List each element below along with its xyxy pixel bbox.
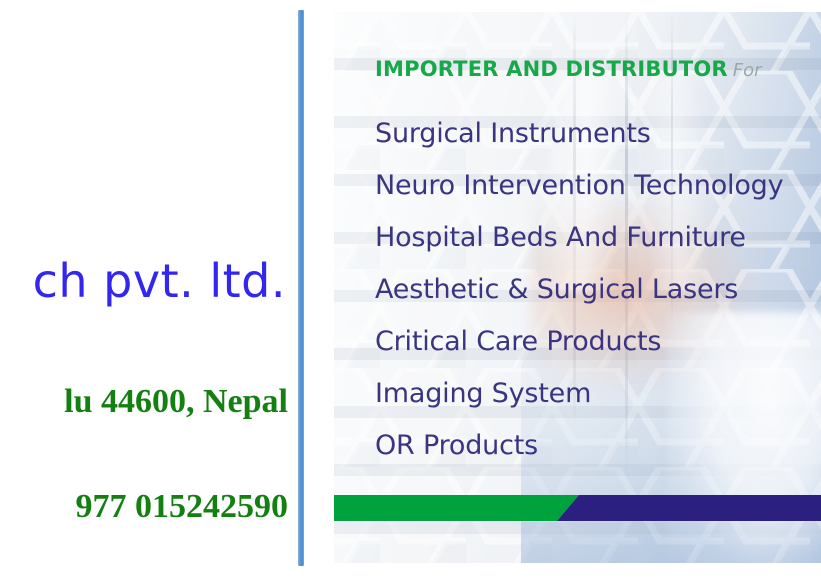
service-label: Aesthetic & Surgical Lasers bbox=[375, 276, 738, 303]
list-item: Critical Care Products bbox=[375, 315, 821, 367]
service-label: Critical Care Products bbox=[375, 328, 661, 355]
list-item: Imaging System bbox=[375, 367, 821, 419]
company-info-column: ch pvt. ltd. lu 44600, Nepal 977 0152425… bbox=[0, 0, 300, 581]
services-list: Surgical Instruments Neuro Intervention … bbox=[375, 107, 821, 471]
accent-bar-green-segment bbox=[334, 495, 579, 521]
service-label: OR Products bbox=[375, 432, 538, 459]
company-phone: 977 015242590 bbox=[76, 490, 289, 524]
accent-bar bbox=[334, 495, 821, 521]
list-item: Aesthetic & Surgical Lasers bbox=[375, 263, 821, 315]
service-label: Imaging System bbox=[375, 380, 591, 407]
service-label: Surgical Instruments bbox=[375, 120, 651, 147]
list-item: Surgical Instruments bbox=[375, 107, 821, 159]
vertical-divider bbox=[298, 10, 304, 566]
headline-main-text: IMPORTER AND DISTRIBUTOR bbox=[375, 57, 728, 81]
list-item: OR Products bbox=[375, 419, 821, 471]
service-label: Hospital Beds And Furniture bbox=[375, 224, 746, 251]
services-panel: IMPORTER AND DISTRIBUTORFor Surgical Ins… bbox=[334, 12, 821, 563]
list-item: Hospital Beds And Furniture bbox=[375, 211, 821, 263]
panel-content: IMPORTER AND DISTRIBUTORFor Surgical Ins… bbox=[334, 12, 821, 563]
company-address: lu 44600, Nepal bbox=[64, 385, 288, 419]
headline-suffix-text: For bbox=[733, 60, 762, 81]
company-name: ch pvt. ltd. bbox=[33, 258, 286, 304]
panel-headline: IMPORTER AND DISTRIBUTORFor bbox=[375, 59, 762, 80]
list-item: Neuro Intervention Technology bbox=[375, 159, 821, 211]
accent-bar-navy-segment bbox=[557, 495, 821, 521]
service-label: Neuro Intervention Technology bbox=[375, 172, 783, 199]
